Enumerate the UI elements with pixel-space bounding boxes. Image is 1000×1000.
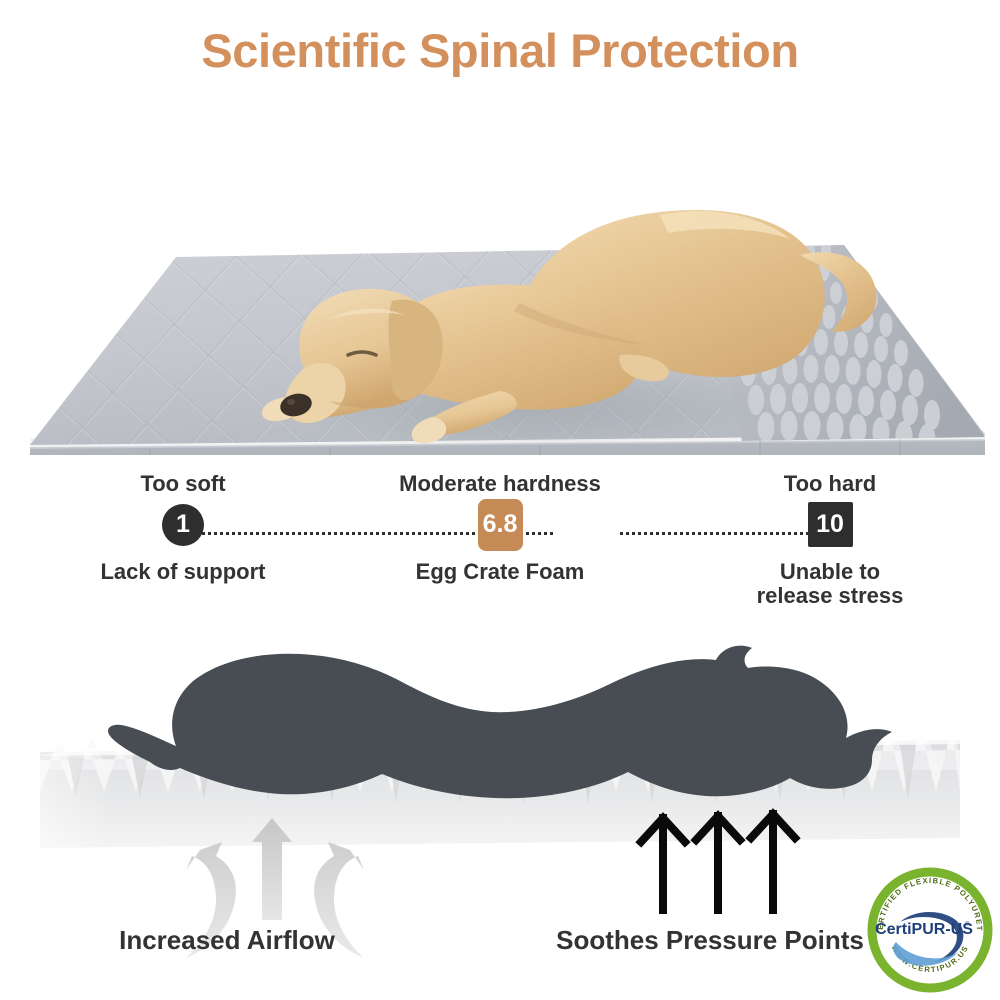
scale-node-too-soft-badge-wrap: 1 (58, 497, 308, 553)
scale-badge-10: 10 (808, 502, 853, 547)
scale-node-too-hard-bottom-label-line2: release stress (705, 584, 955, 609)
pressure-arrow-3 (751, 814, 795, 910)
dog-silhouette (108, 646, 892, 799)
caption-increased-airflow: Increased Airflow (62, 925, 392, 956)
page-title-text: Scientific Spinal Protection (0, 26, 1000, 75)
scale-node-moderate-top-label: Moderate hardness (375, 472, 625, 497)
certipur-logo-badge: CONTAINS CERTIFIED FLEXIBLE POLYURETHANE… (866, 866, 994, 994)
scale-node-too-soft-bottom-label: Lack of support (58, 560, 308, 585)
hardness-scale: Too soft 1 Lack of support Moderate hard… (0, 468, 1000, 613)
page-title: Scientific Spinal Protection (0, 26, 1000, 75)
caption-soothes-pressure-points: Soothes Pressure Points (520, 925, 900, 956)
scale-node-too-soft-top-label: Too soft (58, 472, 308, 497)
certipur-wordmark: CertiPUR-US ® (875, 921, 973, 938)
pressure-point-arrows (641, 814, 795, 910)
scale-badge-1: 1 (162, 504, 204, 546)
pressure-arrow-1 (641, 818, 685, 910)
scale-node-moderate-badge-wrap: 6.8 (375, 497, 625, 553)
scale-node-too-soft: Too soft 1 Lack of support (58, 472, 308, 584)
scale-badge-6-8: 6.8 (478, 499, 523, 551)
scale-node-moderate: Moderate hardness 6.8 Egg Crate Foam (375, 472, 625, 584)
scale-node-too-hard-badge-wrap: 10 (705, 497, 955, 553)
pressure-arrow-2 (696, 816, 740, 910)
hero-product-image (0, 105, 1000, 455)
dog-on-bed-illustration (0, 105, 1000, 455)
scale-node-too-hard-top-label: Too hard (705, 472, 955, 497)
svg-text:®: ® (965, 921, 970, 928)
scale-node-too-hard-bottom-label-line1: Unable to (705, 560, 955, 585)
svg-text:CertiPUR-US: CertiPUR-US (875, 921, 973, 938)
scale-node-moderate-bottom-label: Egg Crate Foam (375, 560, 625, 585)
scale-node-too-hard: Too hard 10 Unable to release stress (705, 472, 955, 609)
certipur-us-logo: CONTAINS CERTIFIED FLEXIBLE POLYURETHANE… (866, 866, 994, 994)
